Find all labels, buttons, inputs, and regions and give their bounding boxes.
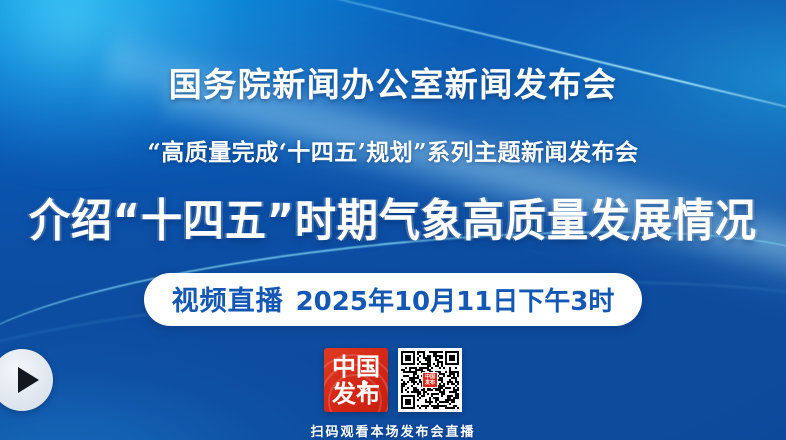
poster-content: 国务院新闻办公室新闻发布会 “高质量完成‘十四五’规划”系列主题新闻发布会 介绍… — [0, 0, 786, 440]
topic-headline: 介绍“十四五”时期气象高质量发展情况 — [29, 183, 757, 249]
qr-center-line-two: 发布 — [425, 380, 435, 386]
logo-text-line-one: 中国 — [332, 354, 380, 380]
microphone-icon — [356, 379, 372, 395]
page-title: 国务院新闻办公室新闻发布会 — [169, 58, 618, 106]
qr-code[interactable]: 中国 发布 — [398, 348, 462, 412]
live-broadcast-poster: 国务院新闻办公室新闻发布会 “高质量完成‘十四五’规划”系列主题新闻发布会 介绍… — [0, 0, 786, 440]
series-subtitle: “高质量完成‘十四五’规划”系列主题新闻发布会 — [148, 133, 639, 167]
poster-footer: 中国 发布 中国 发布 扫码观看本场发布会直播 — [310, 348, 475, 440]
play-icon — [18, 367, 39, 393]
brand-and-qr-group: 中国 发布 中国 发布 — [324, 348, 462, 412]
qr-center-logo: 中国 发布 — [422, 372, 438, 388]
scan-instruction-caption: 扫码观看本场发布会直播 — [310, 421, 475, 440]
live-schedule-badge: 视频直播 2025年10月11日下午3时 — [144, 273, 643, 326]
live-badge-datetime: 2025年10月11日下午3时 — [296, 281, 615, 318]
live-badge-label: 视频直播 — [172, 279, 284, 318]
china-release-logo: 中国 发布 — [324, 348, 388, 412]
